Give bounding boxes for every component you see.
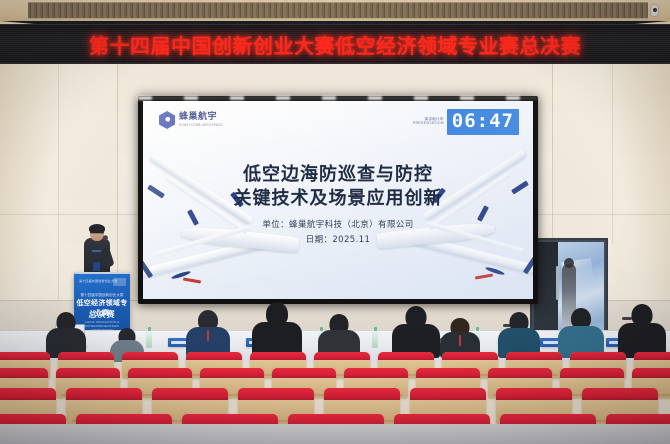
slide-date: 日期：2025.11: [143, 233, 533, 245]
slide-date-value: 2025.11: [332, 235, 370, 245]
slide-organization: 单位：蜂巢航宇科技（北京）有限公司: [143, 218, 533, 230]
audience-person: [618, 304, 666, 358]
timer-value: 06:47: [447, 109, 519, 135]
logo-name-cn: 蜂巢航宇: [179, 113, 223, 122]
company-logo: 蜂巢航宇 HONEYCOMB AEROSPACE: [159, 111, 223, 129]
wall-seam: [0, 214, 138, 215]
timer-label: 演讲倒计时 PRESENTATION: [413, 118, 444, 126]
floor: [0, 424, 670, 444]
presenter-badge: [93, 262, 100, 271]
audience-person: [252, 302, 302, 358]
slide-organization-label: 单位：: [262, 220, 289, 230]
water-bottle: [372, 330, 378, 348]
slide-organization-value: 蜂巢航宇科技（北京）有限公司: [289, 220, 414, 230]
podium-line1: 第十四届中国创新创业大赛: [74, 292, 130, 297]
slide-surface: 蜂巢航宇 HONEYCOMB AEROSPACE 演讲倒计时 PRESENTAT…: [143, 101, 533, 299]
conference-hall-photo: 第十四届中国创新创业大赛低空经济领域专业赛总决赛 蜂巢航宇 HONEYCOMB …: [0, 0, 670, 444]
audience-person: [186, 310, 230, 358]
slide-date-label: 日期：: [306, 235, 333, 245]
ceiling-slat-grille: [28, 2, 648, 19]
audience-person: [392, 306, 440, 358]
presentation-screen: 蜂巢航宇 HONEYCOMB AEROSPACE 演讲倒计时 PRESENTAT…: [138, 96, 538, 304]
door-handle[interactable]: [556, 266, 559, 300]
podium-logo-text: 第十四届中国创新创业大赛: [79, 279, 117, 283]
wall-seam: [58, 64, 59, 314]
countdown-timer: 演讲倒计时 PRESENTATION 06:47: [413, 109, 519, 135]
water-bottle: [146, 330, 152, 348]
wall-seam: [612, 64, 613, 244]
podium-top-surface: [74, 272, 130, 274]
wall-seam: [538, 214, 670, 215]
presenter-hair: [89, 224, 105, 233]
led-banner-text: 第十四届中国创新创业大赛低空经济领域专业赛总决赛: [89, 30, 581, 59]
hexagon-logo-icon: [159, 111, 175, 129]
person-behind-door-head: [564, 258, 574, 268]
slide-title-block: 低空边海防巡查与防控 关键技术及场景应用创新 单位：蜂巢航宇科技（北京）有限公司…: [143, 163, 533, 245]
slide-title-line2: 关键技术及场景应用创新: [143, 187, 533, 211]
led-banner: 第十四届中国创新创业大赛低空经济领域专业赛总决赛: [0, 24, 670, 64]
podium-badge: [113, 278, 126, 286]
slide-title-line1: 低空边海防巡查与防控: [143, 163, 533, 187]
logo-name-en: HONEYCOMB AEROSPACE: [179, 124, 223, 127]
ceiling-camera-icon: [651, 5, 658, 16]
logo-wordmark: 蜂巢航宇 HONEYCOMB AEROSPACE: [179, 113, 223, 126]
timer-label-line2: PRESENTATION: [413, 122, 444, 126]
audience-person: [558, 308, 604, 358]
